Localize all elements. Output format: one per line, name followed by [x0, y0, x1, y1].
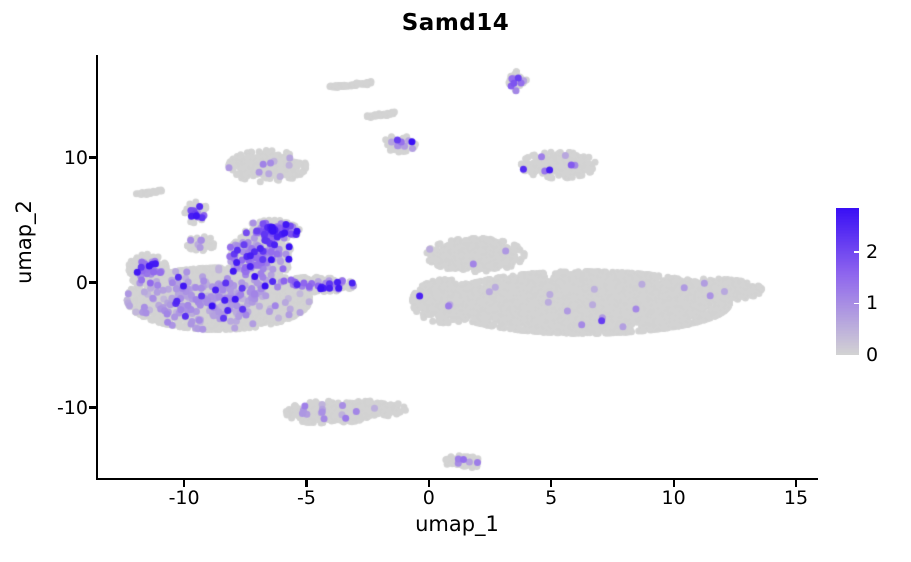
x-tick-mark	[795, 480, 797, 487]
colorbar-tick-label: 0	[866, 344, 878, 366]
colorbar-tick-label: 2	[866, 241, 878, 263]
umap-feature-plot-figure: Samd14 -10-5051015 100-10 umap_1 umap_2 …	[0, 0, 911, 562]
x-tick-label: 5	[545, 487, 557, 509]
x-tick-mark	[183, 480, 185, 487]
x-tick-label: 15	[784, 487, 808, 509]
scatter-plot-canvas	[0, 0, 911, 562]
x-tick-label: 10	[662, 487, 686, 509]
y-tick-mark	[89, 406, 96, 408]
colorbar-tick-mark	[854, 303, 859, 305]
y-tick-label: 10	[64, 147, 88, 169]
colorbar-tick-mark	[854, 251, 859, 253]
y-tick-label: 0	[76, 272, 88, 294]
x-axis-label: umap_1	[96, 512, 818, 536]
y-tick-mark	[89, 281, 96, 283]
x-tick-label: 0	[423, 487, 435, 509]
y-axis-label: umap_2	[12, 132, 36, 352]
x-tick-label: -5	[297, 487, 316, 509]
page-title: Samd14	[0, 10, 911, 36]
x-tick-mark	[550, 480, 552, 487]
colorbar	[836, 208, 859, 355]
x-tick-label: -10	[169, 487, 200, 509]
x-tick-mark	[673, 480, 675, 487]
y-tick-label: -10	[57, 397, 88, 419]
x-tick-mark	[428, 480, 430, 487]
colorbar-tick-label: 1	[866, 292, 878, 314]
y-tick-mark	[89, 156, 96, 158]
x-tick-mark	[305, 480, 307, 487]
